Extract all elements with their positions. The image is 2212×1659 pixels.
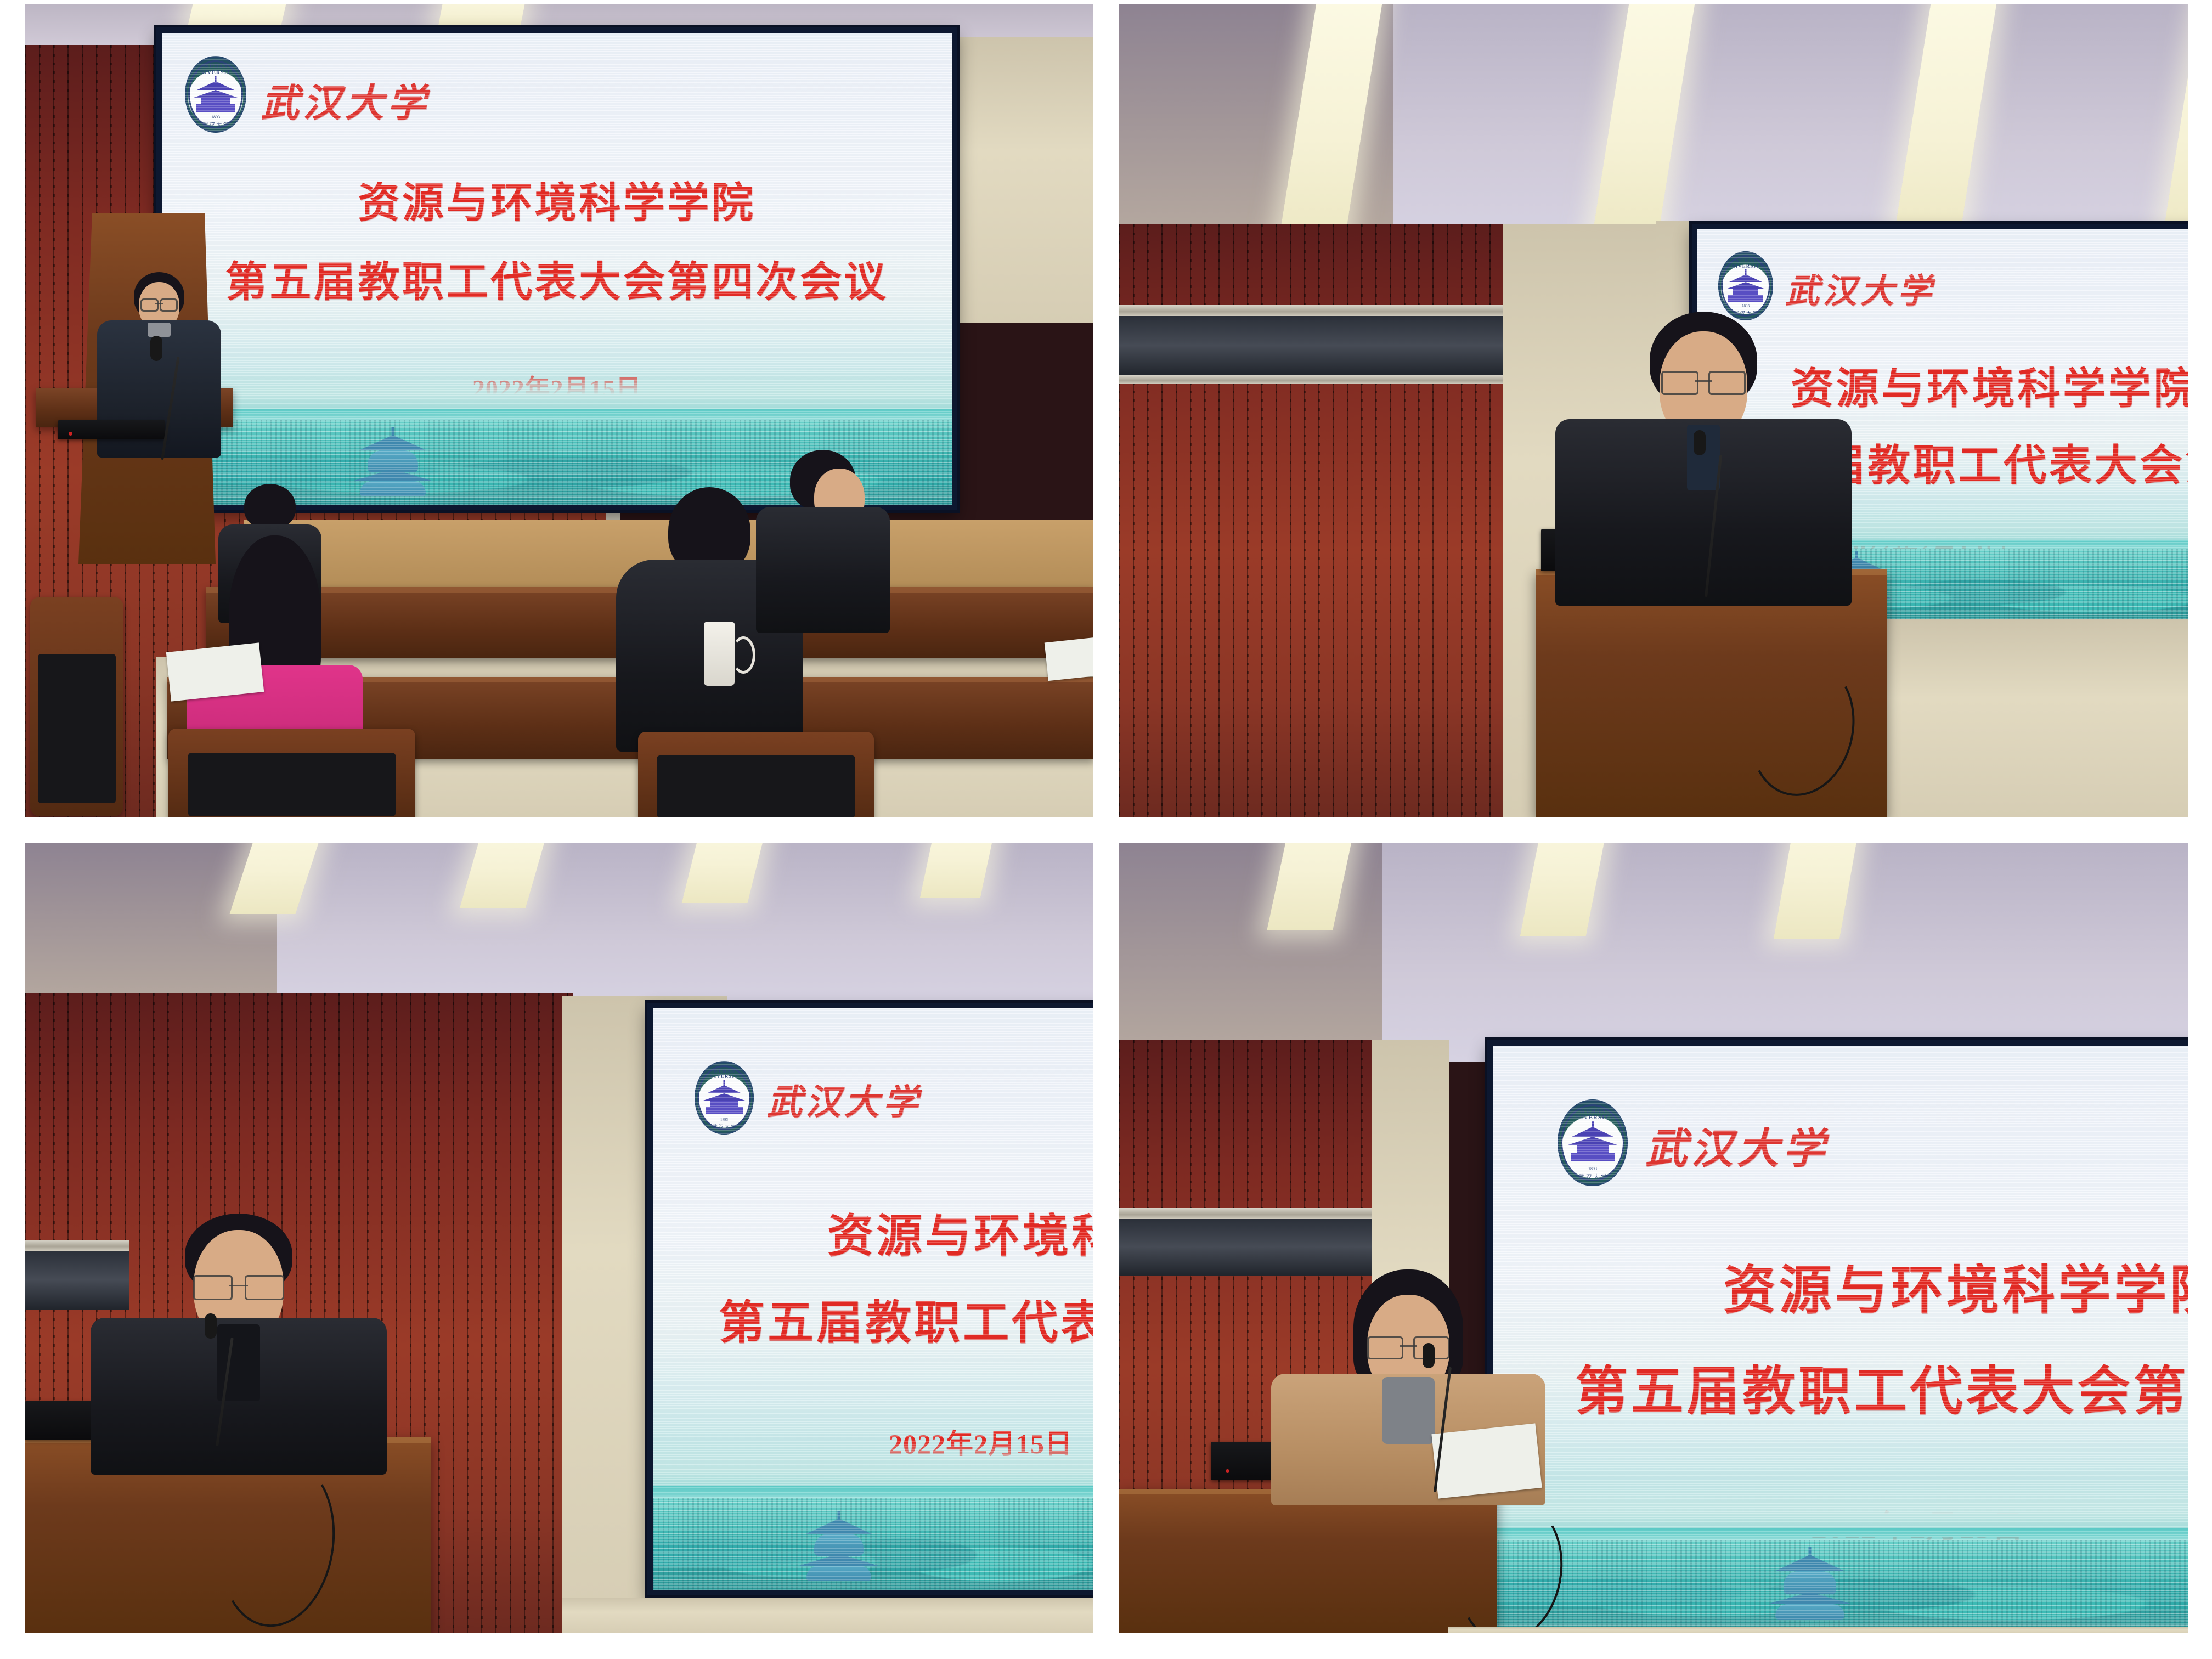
slide-line-2: 第五届教职工代表大会第四次会议 bbox=[1575, 1348, 2188, 1425]
cup-handle bbox=[731, 636, 755, 674]
lower-wall bbox=[1448, 1627, 2188, 1633]
whu-logo-year: 1893 bbox=[1558, 1166, 1628, 1171]
torso bbox=[756, 507, 890, 633]
whu-logo: WUHAN UNIVERSITY 1893 武 汉 大 学 bbox=[185, 56, 246, 133]
microphone bbox=[1434, 1366, 1437, 1492]
glasses-icon bbox=[140, 298, 178, 308]
university-name: 武汉大学 bbox=[261, 72, 430, 128]
thermos-cup bbox=[704, 622, 735, 686]
microphone bbox=[216, 1336, 219, 1446]
university-name: 武汉大学 bbox=[1645, 1115, 1829, 1175]
window-slot bbox=[1119, 1218, 1372, 1276]
whu-logo-arc-text: WUHAN UNIVERSITY bbox=[1718, 258, 1773, 269]
wall-trim bbox=[1119, 1208, 1372, 1219]
chair bbox=[168, 729, 415, 817]
slide-line-1: 资源与环境科学学院 bbox=[1723, 1248, 2188, 1324]
chair bbox=[638, 732, 874, 817]
document-sheet bbox=[166, 642, 264, 701]
photo-panel-top-right[interactable]: WUHAN UNIVERSITY 1893 武 汉 大 学 武汉大学 资源与环境… bbox=[1119, 4, 2188, 817]
photo-panel-bottom-left[interactable]: WUHAN UNIVERSITY 1893 武 汉 大 学 武汉大学 资源与环境… bbox=[25, 843, 1093, 1633]
photo-panel-bottom-right[interactable]: WUHAN UNIVERSITY 1893 武 汉 大 学 武汉大学 资源与环境… bbox=[1119, 843, 2188, 1633]
slide-line-1: 资源与环境科学学院 bbox=[358, 169, 755, 229]
pagoda-icon bbox=[194, 80, 238, 114]
whu-logo-bottom-text: 武 汉 大 学 bbox=[185, 120, 246, 128]
whu-logo-arc-text: WUHAN UNIVERSITY bbox=[185, 64, 246, 76]
whu-logo-year: 1893 bbox=[185, 115, 246, 120]
ceiling-soffit bbox=[25, 843, 277, 1007]
pagoda-icon bbox=[703, 1084, 745, 1117]
university-name: 武汉大学 bbox=[1785, 263, 1935, 313]
photo-panel-top-left[interactable]: WUHAN UNIVERSITY 1893 武 汉 大 学 武汉大学 资源与环境… bbox=[25, 4, 1093, 817]
window-slot bbox=[1119, 315, 1503, 376]
podium bbox=[1119, 1489, 1497, 1633]
glasses-icon bbox=[193, 1275, 284, 1297]
shirt-collar bbox=[148, 323, 171, 337]
whu-logo-year: 1893 bbox=[1718, 304, 1773, 308]
lower-wall bbox=[562, 1598, 1093, 1633]
chair bbox=[30, 597, 123, 816]
whu-logo-arc-text: WUHAN UNIVERSITY bbox=[695, 1068, 754, 1079]
slide-line-2: 第五届教职工代表大会第四次会议 bbox=[719, 1286, 1093, 1352]
glasses-icon bbox=[1661, 371, 1746, 392]
whu-logo-year: 1893 bbox=[695, 1118, 754, 1122]
led-screen: WUHAN UNIVERSITY 1893 武 汉 大 学 武汉大学 资源与环境… bbox=[1487, 1040, 2188, 1633]
sweater-neckline bbox=[1382, 1377, 1435, 1444]
hair bbox=[244, 484, 296, 529]
campus-illustration bbox=[1493, 1486, 2188, 1628]
speaker-podium bbox=[85, 1214, 392, 1466]
document-sheet bbox=[1045, 635, 1093, 681]
microphone bbox=[161, 356, 164, 460]
slide: WUHAN UNIVERSITY 1893 武 汉 大 学 武汉大学 资源与环境… bbox=[1493, 1046, 2188, 1628]
campus-pagoda bbox=[798, 1515, 880, 1581]
photo-collage: WUHAN UNIVERSITY 1893 武 汉 大 学 武汉大学 资源与环境… bbox=[0, 0, 2212, 1659]
whu-logo-arc-text: WUHAN UNIVERSITY bbox=[1558, 1108, 1628, 1121]
microphone bbox=[1705, 454, 1708, 597]
slide: WUHAN UNIVERSITY 1893 武 汉 大 学 武汉大学 资源与环境… bbox=[162, 33, 952, 505]
laptop bbox=[58, 420, 165, 439]
wall-trim bbox=[1119, 305, 1503, 316]
pagoda-icon bbox=[1567, 1126, 1618, 1164]
slide: WUHAN UNIVERSITY 1893 武 汉 大 学 武汉大学 资源与环境… bbox=[653, 1008, 1093, 1590]
campus-pagoda bbox=[352, 431, 434, 496]
led-screen: WUHAN UNIVERSITY 1893 武 汉 大 学 武汉大学 资源与环境… bbox=[647, 1003, 1093, 1595]
led-screen: WUHAN UNIVERSITY 1893 武 汉 大 学 武汉大学 资源与环境… bbox=[156, 27, 957, 510]
whu-logo-bottom-text: 武 汉 大 学 bbox=[695, 1123, 754, 1130]
glasses-icon bbox=[1367, 1336, 1449, 1356]
university-name: 武汉大学 bbox=[767, 1074, 922, 1125]
whu-logo: WUHAN UNIVERSITY 1893 武 汉 大 学 bbox=[1718, 251, 1773, 320]
campus-pagoda bbox=[1766, 1551, 1854, 1620]
pagoda-icon bbox=[1726, 273, 1765, 304]
wall-trim bbox=[1119, 375, 1503, 384]
slide-line-1: 资源与环境科学学院 bbox=[827, 1199, 1093, 1266]
attendee-back-row bbox=[754, 450, 891, 631]
whu-logo: WUHAN UNIVERSITY 1893 武 汉 大 学 bbox=[695, 1061, 754, 1135]
whu-logo: WUHAN UNIVERSITY 1893 武 汉 大 学 bbox=[1558, 1099, 1628, 1186]
campus-illustration bbox=[653, 1442, 1093, 1590]
whu-logo-bottom-text: 武 汉 大 学 bbox=[1558, 1172, 1628, 1181]
speech-script bbox=[1431, 1423, 1542, 1498]
slide-line-2: 第五届教职工代表大会第四次会议 bbox=[225, 248, 888, 308]
speaker-podium bbox=[1550, 312, 1857, 597]
